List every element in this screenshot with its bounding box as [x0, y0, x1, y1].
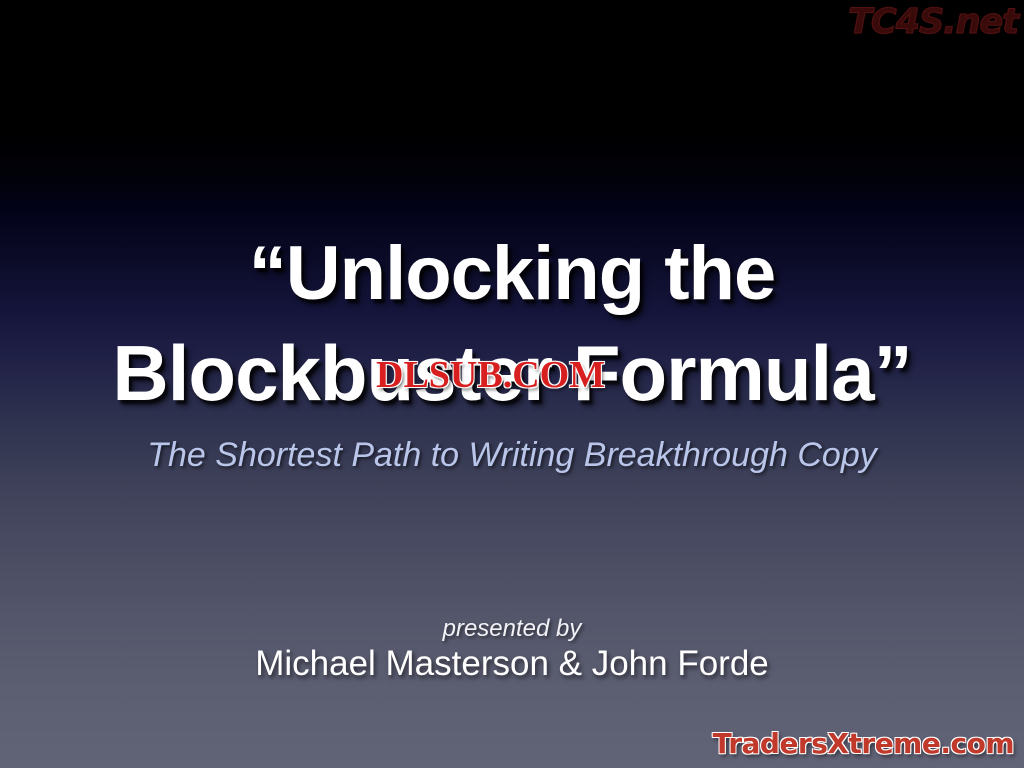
presenter-names: Michael Masterson & John Forde: [0, 644, 1024, 684]
watermark-top-right: TC4S.net: [848, 2, 1018, 42]
watermark-bottom-right: TradersXtreme.com: [713, 727, 1014, 760]
title-line-1: “Unlocking the: [0, 236, 1024, 312]
watermark-center: DLSUB.COM: [376, 356, 605, 394]
presented-by-label: presented by: [0, 615, 1024, 643]
slide-subtitle: The Shortest Path to Writing Breakthroug…: [0, 436, 1024, 475]
presentation-slide: TC4S.net “Unlocking the Blockbuster Form…: [0, 0, 1024, 768]
